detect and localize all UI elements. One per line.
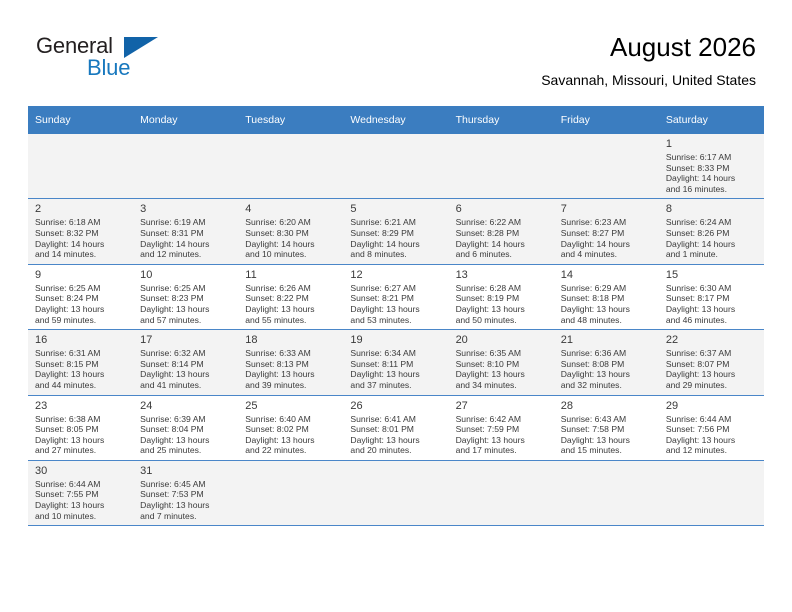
daylight-text-line2: and 50 minutes. [456, 315, 547, 326]
daylight-text-line1: Daylight: 14 hours [666, 239, 757, 250]
day-cell[interactable]: 9Sunrise: 6:25 AMSunset: 8:24 PMDaylight… [28, 264, 133, 329]
daylight-text-line1: Daylight: 14 hours [666, 173, 757, 184]
logo-text-blue: Blue [87, 56, 256, 79]
day-cell[interactable]: 18Sunrise: 6:33 AMSunset: 8:13 PMDayligh… [238, 330, 343, 395]
day-cell[interactable]: 21Sunrise: 6:36 AMSunset: 8:08 PMDayligh… [554, 330, 659, 395]
calendar-body: 1Sunrise: 6:17 AMSunset: 8:33 PMDaylight… [28, 134, 764, 526]
sunset-text: Sunset: 8:30 PM [245, 228, 336, 239]
day-cell[interactable]: 15Sunrise: 6:30 AMSunset: 8:17 PMDayligh… [659, 264, 764, 329]
sunrise-text: Sunrise: 6:29 AM [561, 283, 652, 294]
day-cell-content: 30Sunrise: 6:44 AMSunset: 7:55 PMDayligh… [28, 461, 133, 525]
day-number: 5 [350, 202, 441, 216]
sunrise-text: Sunrise: 6:22 AM [456, 217, 547, 228]
weekday-header-sunday: Sunday [28, 106, 133, 134]
daylight-text-line2: and 29 minutes. [666, 380, 757, 391]
sunset-text: Sunset: 8:04 PM [140, 424, 231, 435]
sunrise-text: Sunrise: 6:32 AM [140, 348, 231, 359]
calendar-week-row: 9Sunrise: 6:25 AMSunset: 8:24 PMDaylight… [28, 264, 764, 329]
sunset-text: Sunset: 8:02 PM [245, 424, 336, 435]
day-cell-content [554, 134, 659, 198]
day-cell[interactable]: 23Sunrise: 6:38 AMSunset: 8:05 PMDayligh… [28, 395, 133, 460]
daylight-text-line2: and 10 minutes. [35, 511, 126, 522]
daylight-text-line1: Daylight: 13 hours [140, 304, 231, 315]
daylight-text-line2: and 7 minutes. [140, 511, 231, 522]
day-cell[interactable]: 17Sunrise: 6:32 AMSunset: 8:14 PMDayligh… [133, 330, 238, 395]
daylight-text-line2: and 53 minutes. [350, 315, 441, 326]
day-cell-content: 31Sunrise: 6:45 AMSunset: 7:53 PMDayligh… [133, 461, 238, 525]
day-cell[interactable]: 11Sunrise: 6:26 AMSunset: 8:22 PMDayligh… [238, 264, 343, 329]
daylight-text-line2: and 39 minutes. [245, 380, 336, 391]
day-cell[interactable]: 27Sunrise: 6:42 AMSunset: 7:59 PMDayligh… [449, 395, 554, 460]
sunrise-text: Sunrise: 6:31 AM [35, 348, 126, 359]
day-number: 21 [561, 333, 652, 347]
sunset-text: Sunset: 7:58 PM [561, 424, 652, 435]
daylight-text-line2: and 59 minutes. [35, 315, 126, 326]
calendar-week-row: 30Sunrise: 6:44 AMSunset: 7:55 PMDayligh… [28, 460, 764, 525]
day-cell-content: 25Sunrise: 6:40 AMSunset: 8:02 PMDayligh… [238, 396, 343, 460]
sunset-text: Sunset: 8:01 PM [350, 424, 441, 435]
day-number: 8 [666, 202, 757, 216]
day-cell-content: 11Sunrise: 6:26 AMSunset: 8:22 PMDayligh… [238, 265, 343, 329]
day-cell-content: 24Sunrise: 6:39 AMSunset: 8:04 PMDayligh… [133, 396, 238, 460]
day-cell-content: 15Sunrise: 6:30 AMSunset: 8:17 PMDayligh… [659, 265, 764, 329]
daylight-text-line1: Daylight: 13 hours [561, 304, 652, 315]
daylight-text-line1: Daylight: 14 hours [456, 239, 547, 250]
day-cell[interactable]: 19Sunrise: 6:34 AMSunset: 8:11 PMDayligh… [343, 330, 448, 395]
sunrise-text: Sunrise: 6:34 AM [350, 348, 441, 359]
daylight-text-line2: and 44 minutes. [35, 380, 126, 391]
daylight-text-line2: and 8 minutes. [350, 249, 441, 260]
daylight-text-line2: and 1 minute. [666, 249, 757, 260]
day-cell[interactable]: 26Sunrise: 6:41 AMSunset: 8:01 PMDayligh… [343, 395, 448, 460]
daylight-text-line2: and 27 minutes. [35, 445, 126, 456]
day-cell[interactable]: 14Sunrise: 6:29 AMSunset: 8:18 PMDayligh… [554, 264, 659, 329]
daylight-text-line1: Daylight: 13 hours [35, 369, 126, 380]
day-cell[interactable]: 13Sunrise: 6:28 AMSunset: 8:19 PMDayligh… [449, 264, 554, 329]
day-cell[interactable]: 2Sunrise: 6:18 AMSunset: 8:32 PMDaylight… [28, 199, 133, 264]
sunrise-text: Sunrise: 6:42 AM [456, 414, 547, 425]
day-cell-content [238, 461, 343, 525]
sunset-text: Sunset: 8:14 PM [140, 359, 231, 370]
day-cell[interactable]: 31Sunrise: 6:45 AMSunset: 7:53 PMDayligh… [133, 460, 238, 525]
daylight-text-line2: and 20 minutes. [350, 445, 441, 456]
daylight-text-line2: and 14 minutes. [35, 249, 126, 260]
day-cell[interactable] [238, 460, 343, 525]
day-cell-content [343, 134, 448, 198]
daylight-text-line1: Daylight: 13 hours [456, 435, 547, 446]
day-cell[interactable]: 5Sunrise: 6:21 AMSunset: 8:29 PMDaylight… [343, 199, 448, 264]
weekday-header-tuesday: Tuesday [238, 106, 343, 134]
day-cell-content: 18Sunrise: 6:33 AMSunset: 8:13 PMDayligh… [238, 330, 343, 394]
day-number: 16 [35, 333, 126, 347]
daylight-text-line2: and 48 minutes. [561, 315, 652, 326]
day-cell-content: 22Sunrise: 6:37 AMSunset: 8:07 PMDayligh… [659, 330, 764, 394]
daylight-text-line1: Daylight: 13 hours [666, 369, 757, 380]
sunset-text: Sunset: 8:18 PM [561, 293, 652, 304]
daylight-text-line2: and 6 minutes. [456, 249, 547, 260]
calendar-week-row: 2Sunrise: 6:18 AMSunset: 8:32 PMDaylight… [28, 199, 764, 264]
sunrise-text: Sunrise: 6:25 AM [35, 283, 126, 294]
day-cell-content: 23Sunrise: 6:38 AMSunset: 8:05 PMDayligh… [28, 396, 133, 460]
calendar-week-row: 16Sunrise: 6:31 AMSunset: 8:15 PMDayligh… [28, 330, 764, 395]
day-cell-content: 14Sunrise: 6:29 AMSunset: 8:18 PMDayligh… [554, 265, 659, 329]
page-header: General Blue August 2026 Savannah, Misso… [36, 30, 756, 100]
sunset-text: Sunset: 8:07 PM [666, 359, 757, 370]
title-block: August 2026 Savannah, Missouri, United S… [541, 30, 756, 90]
day-cell[interactable]: 28Sunrise: 6:43 AMSunset: 7:58 PMDayligh… [554, 395, 659, 460]
day-number: 24 [140, 399, 231, 413]
day-cell[interactable]: 25Sunrise: 6:40 AMSunset: 8:02 PMDayligh… [238, 395, 343, 460]
daylight-text-line1: Daylight: 13 hours [35, 435, 126, 446]
daylight-text-line1: Daylight: 14 hours [35, 239, 126, 250]
daylight-text-line1: Daylight: 13 hours [666, 435, 757, 446]
day-number: 12 [350, 268, 441, 282]
sunrise-text: Sunrise: 6:21 AM [350, 217, 441, 228]
sunset-text: Sunset: 7:55 PM [35, 489, 126, 500]
sunrise-text: Sunrise: 6:27 AM [350, 283, 441, 294]
sunset-text: Sunset: 8:21 PM [350, 293, 441, 304]
sunrise-text: Sunrise: 6:45 AM [140, 479, 231, 490]
sunset-text: Sunset: 7:53 PM [140, 489, 231, 500]
daylight-text-line1: Daylight: 13 hours [245, 369, 336, 380]
day-cell-content: 27Sunrise: 6:42 AMSunset: 7:59 PMDayligh… [449, 396, 554, 460]
sunrise-text: Sunrise: 6:18 AM [35, 217, 126, 228]
day-cell-content: 10Sunrise: 6:25 AMSunset: 8:23 PMDayligh… [133, 265, 238, 329]
calendar-header-row: Sunday Monday Tuesday Wednesday Thursday… [28, 106, 764, 134]
day-number: 27 [456, 399, 547, 413]
sunrise-text: Sunrise: 6:30 AM [666, 283, 757, 294]
sunset-text: Sunset: 8:27 PM [561, 228, 652, 239]
day-cell[interactable]: 30Sunrise: 6:44 AMSunset: 7:55 PMDayligh… [28, 460, 133, 525]
sunrise-text: Sunrise: 6:33 AM [245, 348, 336, 359]
calendar-page: General Blue August 2026 Savannah, Misso… [0, 0, 792, 612]
day-cell[interactable]: 10Sunrise: 6:25 AMSunset: 8:23 PMDayligh… [133, 264, 238, 329]
day-number: 29 [666, 399, 757, 413]
day-cell[interactable] [449, 134, 554, 199]
day-cell[interactable]: 24Sunrise: 6:39 AMSunset: 8:04 PMDayligh… [133, 395, 238, 460]
daylight-text-line2: and 12 minutes. [140, 249, 231, 260]
day-number: 3 [140, 202, 231, 216]
daylight-text-line1: Daylight: 13 hours [666, 304, 757, 315]
sunset-text: Sunset: 8:29 PM [350, 228, 441, 239]
day-cell[interactable] [554, 134, 659, 199]
sunset-text: Sunset: 8:13 PM [245, 359, 336, 370]
sunrise-text: Sunrise: 6:24 AM [666, 217, 757, 228]
day-cell-content: 5Sunrise: 6:21 AMSunset: 8:29 PMDaylight… [343, 199, 448, 263]
day-cell[interactable]: 20Sunrise: 6:35 AMSunset: 8:10 PMDayligh… [449, 330, 554, 395]
day-cell[interactable]: 1Sunrise: 6:17 AMSunset: 8:33 PMDaylight… [659, 134, 764, 199]
sunset-text: Sunset: 8:24 PM [35, 293, 126, 304]
day-number: 4 [245, 202, 336, 216]
sunrise-text: Sunrise: 6:19 AM [140, 217, 231, 228]
day-number: 10 [140, 268, 231, 282]
day-cell-content: 17Sunrise: 6:32 AMSunset: 8:14 PMDayligh… [133, 330, 238, 394]
sunrise-text: Sunrise: 6:35 AM [456, 348, 547, 359]
day-number: 2 [35, 202, 126, 216]
weekday-header-saturday: Saturday [659, 106, 764, 134]
day-number: 6 [456, 202, 547, 216]
daylight-text-line1: Daylight: 13 hours [561, 369, 652, 380]
sunset-text: Sunset: 8:05 PM [35, 424, 126, 435]
weekday-header-monday: Monday [133, 106, 238, 134]
daylight-text-line2: and 41 minutes. [140, 380, 231, 391]
day-cell-content [343, 461, 448, 525]
day-number: 23 [35, 399, 126, 413]
sunrise-text: Sunrise: 6:41 AM [350, 414, 441, 425]
day-cell-content [133, 134, 238, 198]
day-number: 13 [456, 268, 547, 282]
sunset-text: Sunset: 7:56 PM [666, 424, 757, 435]
sunset-text: Sunset: 8:17 PM [666, 293, 757, 304]
sunrise-text: Sunrise: 6:23 AM [561, 217, 652, 228]
sunset-text: Sunset: 8:22 PM [245, 293, 336, 304]
daylight-text-line1: Daylight: 14 hours [245, 239, 336, 250]
sunrise-text: Sunrise: 6:37 AM [666, 348, 757, 359]
sunrise-text: Sunrise: 6:20 AM [245, 217, 336, 228]
sunset-text: Sunset: 8:33 PM [666, 163, 757, 174]
sunset-text: Sunset: 8:31 PM [140, 228, 231, 239]
sunset-text: Sunset: 8:11 PM [350, 359, 441, 370]
day-cell-content: 3Sunrise: 6:19 AMSunset: 8:31 PMDaylight… [133, 199, 238, 263]
day-cell[interactable] [554, 460, 659, 525]
logo-triangle-icon [124, 37, 158, 58]
sunset-text: Sunset: 8:32 PM [35, 228, 126, 239]
day-cell-content: 6Sunrise: 6:22 AMSunset: 8:28 PMDaylight… [449, 199, 554, 263]
day-cell[interactable]: 4Sunrise: 6:20 AMSunset: 8:30 PMDaylight… [238, 199, 343, 264]
day-number: 25 [245, 399, 336, 413]
day-number: 20 [456, 333, 547, 347]
day-cell-content [449, 461, 554, 525]
weekday-header-thursday: Thursday [449, 106, 554, 134]
day-cell-content: 12Sunrise: 6:27 AMSunset: 8:21 PMDayligh… [343, 265, 448, 329]
day-number: 9 [35, 268, 126, 282]
sunrise-text: Sunrise: 6:40 AM [245, 414, 336, 425]
day-cell[interactable] [449, 460, 554, 525]
day-cell[interactable]: 6Sunrise: 6:22 AMSunset: 8:28 PMDaylight… [449, 199, 554, 264]
weekday-header-wednesday: Wednesday [343, 106, 448, 134]
day-number: 22 [666, 333, 757, 347]
daylight-text-line1: Daylight: 13 hours [35, 500, 126, 511]
sunrise-text: Sunrise: 6:26 AM [245, 283, 336, 294]
sunrise-text: Sunrise: 6:43 AM [561, 414, 652, 425]
day-cell[interactable]: 16Sunrise: 6:31 AMSunset: 8:15 PMDayligh… [28, 330, 133, 395]
page-title: August 2026 [541, 30, 756, 64]
daylight-text-line2: and 34 minutes. [456, 380, 547, 391]
day-cell[interactable] [28, 134, 133, 199]
day-cell[interactable]: 29Sunrise: 6:44 AMSunset: 7:56 PMDayligh… [659, 395, 764, 460]
general-blue-logo[interactable]: General Blue [36, 34, 256, 94]
day-cell-content: 26Sunrise: 6:41 AMSunset: 8:01 PMDayligh… [343, 396, 448, 460]
daylight-text-line2: and 15 minutes. [561, 445, 652, 456]
day-number: 14 [561, 268, 652, 282]
day-number: 17 [140, 333, 231, 347]
day-number: 18 [245, 333, 336, 347]
sunset-text: Sunset: 8:19 PM [456, 293, 547, 304]
day-cell[interactable] [238, 134, 343, 199]
day-cell[interactable]: 8Sunrise: 6:24 AMSunset: 8:26 PMDaylight… [659, 199, 764, 264]
day-cell[interactable] [133, 134, 238, 199]
sunset-text: Sunset: 7:59 PM [456, 424, 547, 435]
page-subtitle: Savannah, Missouri, United States [541, 70, 756, 90]
sunrise-text: Sunrise: 6:36 AM [561, 348, 652, 359]
day-number: 19 [350, 333, 441, 347]
sunset-text: Sunset: 8:23 PM [140, 293, 231, 304]
day-cell-content [659, 461, 764, 525]
day-cell[interactable] [343, 460, 448, 525]
daylight-text-line2: and 16 minutes. [666, 184, 757, 195]
day-cell[interactable] [659, 460, 764, 525]
day-cell-content [554, 461, 659, 525]
sunset-text: Sunset: 8:26 PM [666, 228, 757, 239]
day-number: 31 [140, 464, 231, 478]
sunrise-text: Sunrise: 6:38 AM [35, 414, 126, 425]
daylight-text-line1: Daylight: 13 hours [561, 435, 652, 446]
day-cell-content: 7Sunrise: 6:23 AMSunset: 8:27 PMDaylight… [554, 199, 659, 263]
daylight-text-line1: Daylight: 13 hours [140, 435, 231, 446]
day-number: 28 [561, 399, 652, 413]
sunset-text: Sunset: 8:28 PM [456, 228, 547, 239]
daylight-text-line1: Daylight: 13 hours [245, 304, 336, 315]
sunrise-text: Sunrise: 6:17 AM [666, 152, 757, 163]
day-cell[interactable]: 22Sunrise: 6:37 AMSunset: 8:07 PMDayligh… [659, 330, 764, 395]
daylight-text-line2: and 46 minutes. [666, 315, 757, 326]
day-number: 7 [561, 202, 652, 216]
weekday-header-friday: Friday [554, 106, 659, 134]
day-cell-content: 8Sunrise: 6:24 AMSunset: 8:26 PMDaylight… [659, 199, 764, 263]
sunset-text: Sunset: 8:08 PM [561, 359, 652, 370]
day-number: 11 [245, 268, 336, 282]
day-cell[interactable] [343, 134, 448, 199]
sunrise-text: Sunrise: 6:28 AM [456, 283, 547, 294]
daylight-text-line2: and 4 minutes. [561, 249, 652, 260]
day-number: 30 [35, 464, 126, 478]
daylight-text-line2: and 32 minutes. [561, 380, 652, 391]
day-cell[interactable]: 3Sunrise: 6:19 AMSunset: 8:31 PMDaylight… [133, 199, 238, 264]
day-cell-content: 4Sunrise: 6:20 AMSunset: 8:30 PMDaylight… [238, 199, 343, 263]
day-cell-content: 2Sunrise: 6:18 AMSunset: 8:32 PMDaylight… [28, 199, 133, 263]
day-number: 1 [666, 137, 757, 151]
day-cell-content: 16Sunrise: 6:31 AMSunset: 8:15 PMDayligh… [28, 330, 133, 394]
day-cell-content: 29Sunrise: 6:44 AMSunset: 7:56 PMDayligh… [659, 396, 764, 460]
daylight-text-line2: and 25 minutes. [140, 445, 231, 456]
daylight-text-line1: Daylight: 13 hours [350, 304, 441, 315]
daylight-text-line1: Daylight: 13 hours [350, 369, 441, 380]
daylight-text-line2: and 17 minutes. [456, 445, 547, 456]
day-number: 15 [666, 268, 757, 282]
day-cell-content: 20Sunrise: 6:35 AMSunset: 8:10 PMDayligh… [449, 330, 554, 394]
sunrise-text: Sunrise: 6:39 AM [140, 414, 231, 425]
daylight-text-line1: Daylight: 13 hours [245, 435, 336, 446]
day-cell-content: 21Sunrise: 6:36 AMSunset: 8:08 PMDayligh… [554, 330, 659, 394]
day-cell-content [238, 134, 343, 198]
day-cell-content: 28Sunrise: 6:43 AMSunset: 7:58 PMDayligh… [554, 396, 659, 460]
daylight-text-line2: and 10 minutes. [245, 249, 336, 260]
daylight-text-line2: and 55 minutes. [245, 315, 336, 326]
daylight-text-line1: Daylight: 13 hours [350, 435, 441, 446]
daylight-text-line2: and 22 minutes. [245, 445, 336, 456]
day-cell-content: 9Sunrise: 6:25 AMSunset: 8:24 PMDaylight… [28, 265, 133, 329]
daylight-text-line1: Daylight: 13 hours [35, 304, 126, 315]
daylight-text-line1: Daylight: 13 hours [140, 369, 231, 380]
day-cell[interactable]: 7Sunrise: 6:23 AMSunset: 8:27 PMDaylight… [554, 199, 659, 264]
daylight-text-line1: Daylight: 13 hours [456, 369, 547, 380]
sunrise-sunset-calendar: Sunday Monday Tuesday Wednesday Thursday… [28, 106, 764, 526]
sunrise-text: Sunrise: 6:44 AM [35, 479, 126, 490]
sunrise-text: Sunrise: 6:44 AM [666, 414, 757, 425]
day-cell-content: 19Sunrise: 6:34 AMSunset: 8:11 PMDayligh… [343, 330, 448, 394]
day-cell-content: 1Sunrise: 6:17 AMSunset: 8:33 PMDaylight… [659, 134, 764, 198]
sunset-text: Sunset: 8:15 PM [35, 359, 126, 370]
daylight-text-line1: Daylight: 14 hours [561, 239, 652, 250]
calendar-week-row: 23Sunrise: 6:38 AMSunset: 8:05 PMDayligh… [28, 395, 764, 460]
daylight-text-line2: and 37 minutes. [350, 380, 441, 391]
calendar-week-row: 1Sunrise: 6:17 AMSunset: 8:33 PMDaylight… [28, 134, 764, 199]
day-cell-content: 13Sunrise: 6:28 AMSunset: 8:19 PMDayligh… [449, 265, 554, 329]
day-number: 26 [350, 399, 441, 413]
day-cell-content [449, 134, 554, 198]
daylight-text-line2: and 57 minutes. [140, 315, 231, 326]
day-cell-content [28, 134, 133, 198]
daylight-text-line1: Daylight: 14 hours [350, 239, 441, 250]
daylight-text-line2: and 12 minutes. [666, 445, 757, 456]
daylight-text-line1: Daylight: 14 hours [140, 239, 231, 250]
day-cell[interactable]: 12Sunrise: 6:27 AMSunset: 8:21 PMDayligh… [343, 264, 448, 329]
sunrise-text: Sunrise: 6:25 AM [140, 283, 231, 294]
daylight-text-line1: Daylight: 13 hours [456, 304, 547, 315]
daylight-text-line1: Daylight: 13 hours [140, 500, 231, 511]
sunset-text: Sunset: 8:10 PM [456, 359, 547, 370]
